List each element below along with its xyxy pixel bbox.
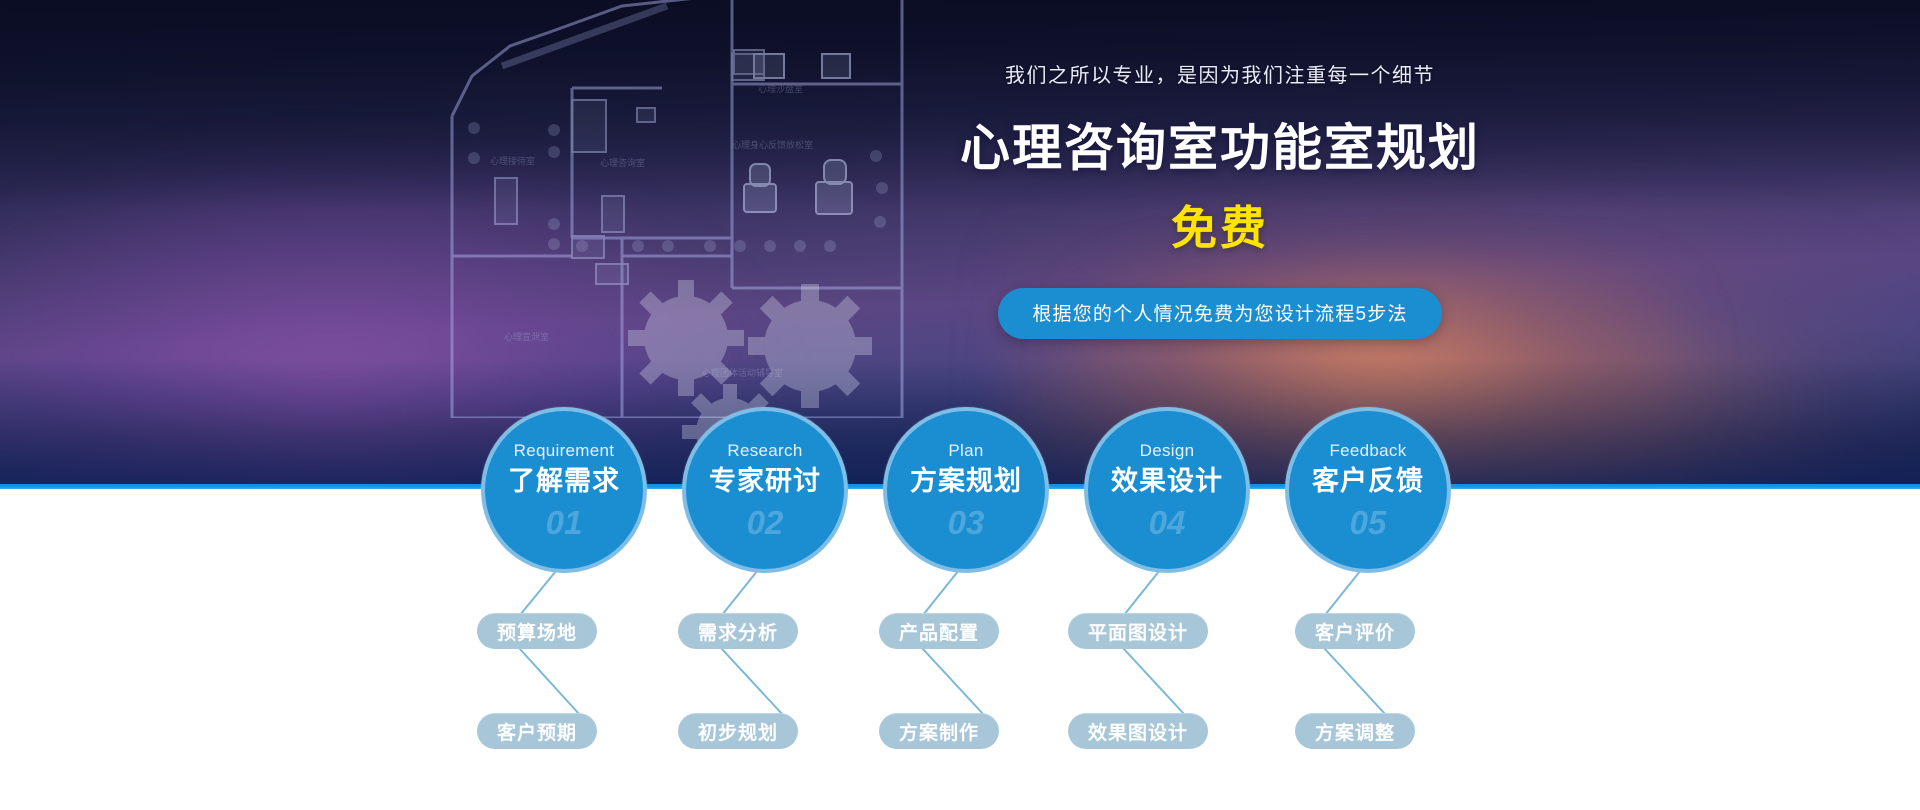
step-number: 05 [1350, 506, 1387, 539]
step-tag-1-primary[interactable]: 预算场地 [477, 613, 597, 649]
step-english-label: Design [1140, 442, 1195, 459]
step-chinese-label: 专家研讨 [709, 468, 821, 495]
step-number: 03 [948, 506, 985, 539]
step-chinese-label: 效果设计 [1111, 468, 1223, 495]
step-tag-3-secondary[interactable]: 方案制作 [879, 713, 999, 749]
step-tag-5-primary[interactable]: 客户评价 [1295, 613, 1415, 649]
step-circle-2[interactable]: Research 专家研讨 02 [682, 407, 848, 573]
step-tag-3-primary[interactable]: 产品配置 [879, 613, 999, 649]
step-tag-2-secondary[interactable]: 初步规划 [678, 713, 798, 749]
banner-stage: 心理接待室 心理咨询室 心理沙盘室 心理身心反馈放松室 心理宣泄室 心理团体活动… [0, 0, 1920, 810]
step-circle-3[interactable]: Plan 方案规划 03 [883, 407, 1049, 573]
step-tag-2-primary[interactable]: 需求分析 [678, 613, 798, 649]
step-number: 02 [747, 506, 784, 539]
step-english-label: Research [727, 442, 802, 459]
step-chinese-label: 方案规划 [910, 468, 1022, 495]
step-chinese-label: 客户反馈 [1312, 468, 1424, 495]
step-chinese-label: 了解需求 [508, 468, 620, 495]
step-tag-1-secondary[interactable]: 客户预期 [477, 713, 597, 749]
step-english-label: Requirement [514, 442, 615, 459]
step-circle-1[interactable]: Requirement 了解需求 01 [481, 407, 647, 573]
step-circle-4[interactable]: Design 效果设计 04 [1084, 407, 1250, 573]
step-number: 01 [546, 506, 583, 539]
step-english-label: Feedback [1329, 442, 1406, 459]
step-tag-4-secondary[interactable]: 效果图设计 [1068, 713, 1208, 749]
step-tag-4-primary[interactable]: 平面图设计 [1068, 613, 1208, 649]
step-circle-5[interactable]: Feedback 客户反馈 05 [1285, 407, 1451, 573]
step-number: 04 [1149, 506, 1186, 539]
step-english-label: Plan [948, 442, 983, 459]
step-tag-5-secondary[interactable]: 方案调整 [1295, 713, 1415, 749]
process-steps: Requirement 了解需求 01 Research 专家研讨 02 Pla… [0, 0, 1920, 810]
